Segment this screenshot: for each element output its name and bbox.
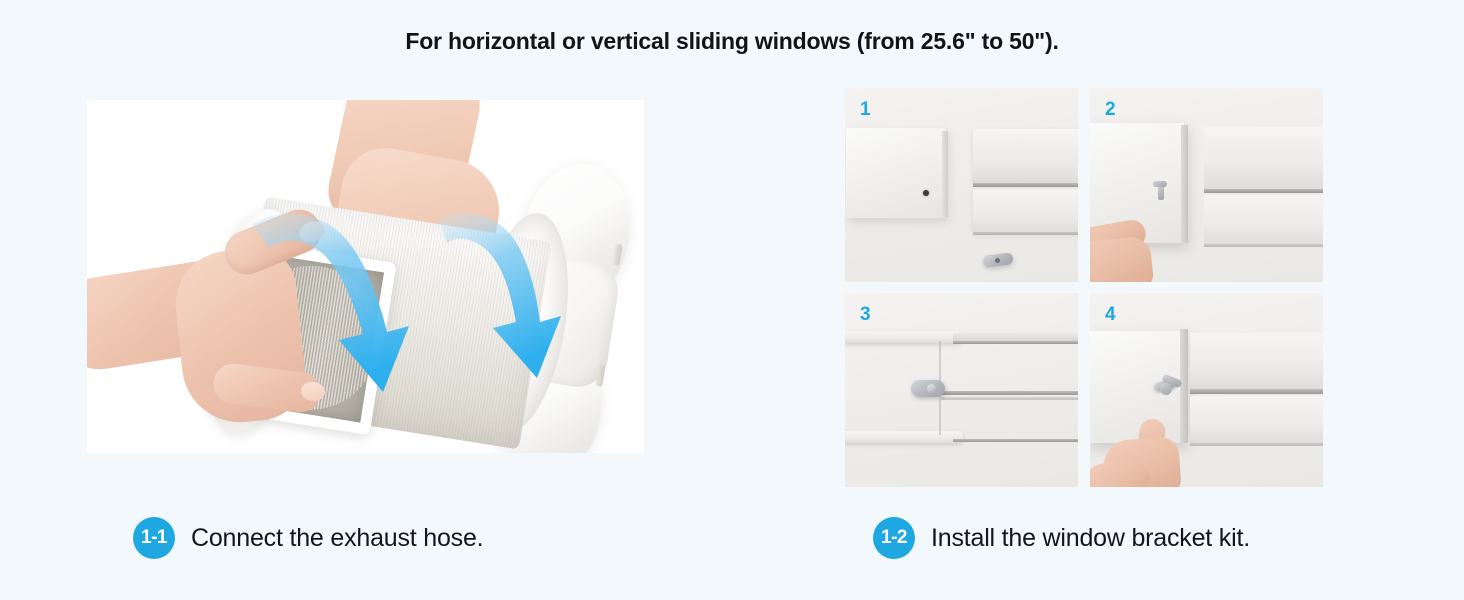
step-badge-1-2: 1-2 <box>873 517 915 559</box>
step-number-4: 4 <box>1105 304 1116 326</box>
step-image-4: 4 <box>1090 293 1323 487</box>
bracket-panel-edge <box>1180 329 1188 443</box>
rail-top-near <box>845 331 963 343</box>
window-rail-lower <box>973 189 1078 233</box>
caption-1-1: 1-1 Connect the exhaust hose. <box>133 517 483 559</box>
rail-bottom-near <box>845 431 963 443</box>
window-rail-lower <box>1204 195 1323 245</box>
window-rail-bottom-edge <box>1190 443 1323 446</box>
rail-bottom-shadow <box>953 439 1078 442</box>
window-rail-groove <box>1190 389 1323 394</box>
exhaust-hose-connection-photo <box>87 100 644 453</box>
step-image-1: 1 <box>845 88 1078 282</box>
step-image-3: 3 <box>845 293 1078 487</box>
rail-middle-groove <box>941 391 1078 395</box>
metal-clip-hole <box>927 384 936 393</box>
airflow-arrows <box>87 100 644 453</box>
hand-palm <box>1090 235 1154 282</box>
window-rail-bottom-edge <box>973 232 1078 235</box>
window-rail-upper <box>1204 127 1323 189</box>
rail-top-shadow <box>953 341 1078 344</box>
airflow-arrow-left <box>252 214 409 392</box>
screw-head <box>1153 181 1167 187</box>
rail-middle-groove-2 <box>941 397 1078 400</box>
step-number-1: 1 <box>860 99 871 121</box>
window-rail-upper <box>973 129 1078 183</box>
caption-1-2-text: Install the window bracket kit. <box>931 524 1250 553</box>
window-rail-upper <box>1190 333 1323 389</box>
step-number-2: 2 <box>1105 99 1116 121</box>
window-rail-bottom-edge <box>1204 244 1323 247</box>
screw-hole <box>923 190 929 196</box>
window-rail-lower <box>1190 396 1323 444</box>
window-rail-groove <box>973 183 1078 187</box>
step-image-grid: 1 2 <box>845 88 1333 498</box>
wing-nut-body <box>1160 383 1172 395</box>
page-title: For horizontal or vertical sliding windo… <box>0 28 1464 55</box>
instruction-page: For horizontal or vertical sliding windo… <box>0 0 1464 600</box>
step-image-2: 2 <box>1090 88 1323 282</box>
bracket-panel-edge <box>1181 125 1188 243</box>
caption-1-1-text: Connect the exhaust hose. <box>191 524 483 553</box>
caption-1-2: 1-2 Install the window bracket kit. <box>873 517 1250 559</box>
window-rail-groove <box>1204 189 1323 193</box>
airflow-arrow-right <box>439 213 561 378</box>
rail-seam <box>939 341 941 435</box>
bracket-panel <box>846 128 945 218</box>
bracket-panel-edge <box>942 131 948 217</box>
step-badge-1-1: 1-1 <box>133 517 175 559</box>
step-number-3: 3 <box>860 304 871 326</box>
